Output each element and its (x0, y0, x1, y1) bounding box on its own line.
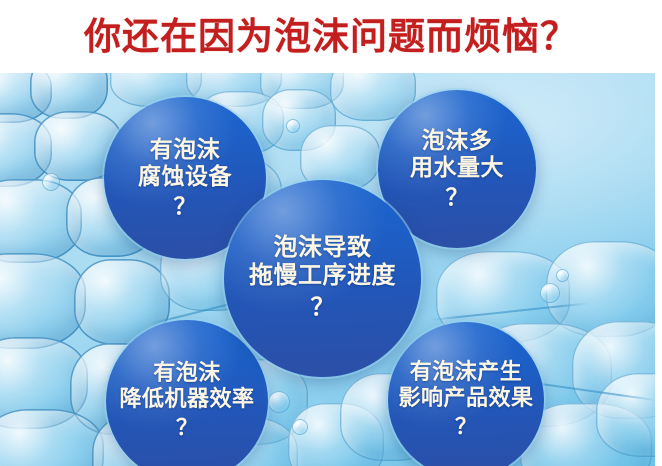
header-banner: 你还在因为泡沫问题而烦恼？ (0, 0, 662, 73)
callout-line-2: 用水量大 (410, 154, 504, 181)
question-mark: ？ (176, 415, 198, 441)
question-mark: ？ (446, 184, 469, 212)
callout-line-2: 影响产品效果 (398, 385, 533, 411)
callout-line-1: 有泡沫 (153, 360, 221, 386)
callout-line-1: 泡沫多 (422, 127, 493, 154)
question-mark: ？ (455, 414, 477, 440)
callout-circle-center[interactable]: 泡沫导致 拖慢工序进度 ？ (224, 180, 421, 377)
page-title: 你还在因为泡沫问题而烦恼？ (84, 18, 578, 55)
question-mark: ？ (174, 193, 197, 221)
question-mark: ？ (311, 294, 335, 323)
callout-line-2: 腐蚀设备 (138, 163, 232, 190)
callout-line-1: 泡沫导致 (274, 234, 372, 262)
callout-line-2: 降低机器效率 (119, 386, 254, 412)
callout-line-2: 拖慢工序进度 (249, 262, 396, 290)
callout-line-1: 有泡沫产生 (410, 359, 523, 385)
callout-circle-bottom-right[interactable]: 有泡沫产生 影响产品效果 ？ (388, 322, 544, 466)
poster-canvas: 你还在因为泡沫问题而烦恼？ (0, 0, 662, 466)
callout-line-1: 有泡沫 (150, 136, 221, 163)
right-edge-strip (655, 73, 662, 466)
